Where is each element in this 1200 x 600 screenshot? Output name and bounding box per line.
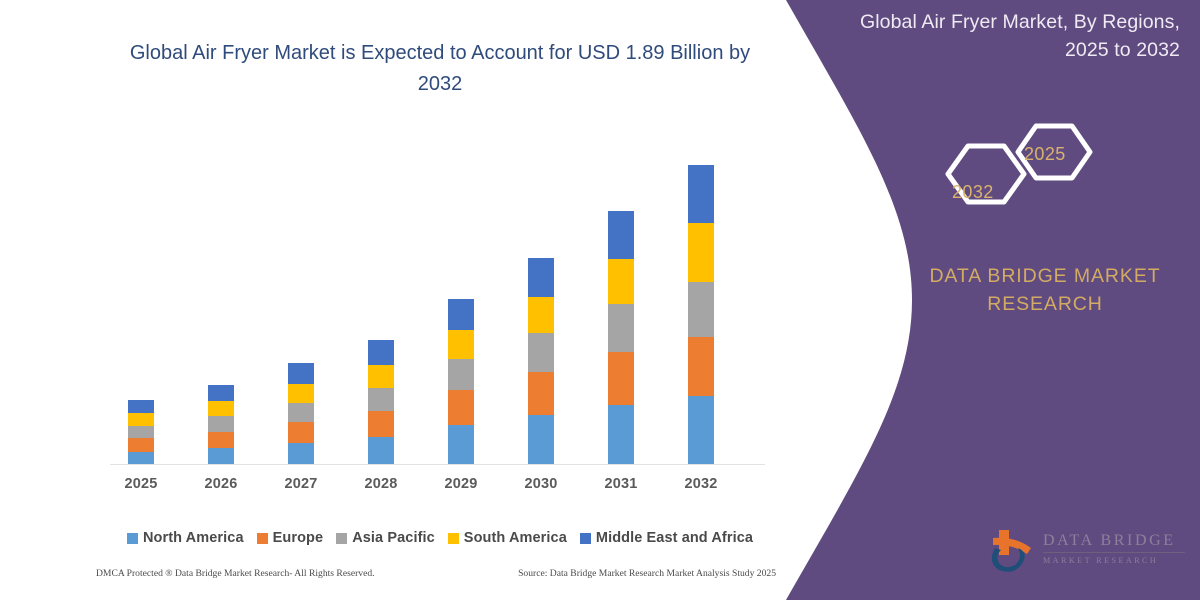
bar-segment-2031-south-america xyxy=(608,259,634,305)
data-bridge-logo: DATA BRIDGE MARKET RESEARCH xyxy=(985,528,1185,576)
legend-item-middle-east-and-africa[interactable]: Middle East and Africa xyxy=(580,530,753,546)
bar-segment-2027-asia-pacific xyxy=(288,403,314,422)
bar-2025[interactable] xyxy=(128,400,154,465)
footer: DMCA Protected ® Data Bridge Market Rese… xyxy=(96,568,776,586)
x-tick-label-2028: 2028 xyxy=(351,476,411,492)
bar-segment-2026-europe xyxy=(208,432,234,448)
bar-segment-2027-europe xyxy=(288,422,314,443)
hexagon-2032-label: 2032 xyxy=(952,182,994,203)
bar-segment-2032-south-america xyxy=(688,223,714,282)
bar-2026[interactable] xyxy=(208,385,234,465)
bar-segment-2030-europe xyxy=(528,372,554,415)
legend-label-europe: Europe xyxy=(273,530,324,546)
logo-line-1: DATA BRIDGE xyxy=(1043,532,1185,550)
bar-segment-2029-europe xyxy=(448,390,474,425)
bar-segment-2025-europe xyxy=(128,438,154,451)
bar-segment-2025-asia-pacific xyxy=(128,426,154,438)
bar-segment-2030-asia-pacific xyxy=(528,333,554,372)
bar-segment-2028-europe xyxy=(368,411,394,437)
hexagon-2025-label: 2025 xyxy=(1024,144,1066,165)
x-tick-label-2027: 2027 xyxy=(271,476,331,492)
stacked-bar-chart-plot xyxy=(110,140,770,465)
bar-segment-2026-middle-east-and-africa xyxy=(208,385,234,401)
legend-label-north-america: North America xyxy=(143,530,244,546)
hexagon-badges-svg xyxy=(930,108,1110,233)
legend-label-middle-east-and-africa: Middle East and Africa xyxy=(596,530,753,546)
bar-segment-2028-middle-east-and-africa xyxy=(368,340,394,365)
bar-segment-2028-south-america xyxy=(368,365,394,388)
bar-2032[interactable] xyxy=(688,165,714,465)
bar-segment-2029-middle-east-and-africa xyxy=(448,299,474,331)
bar-2029[interactable] xyxy=(448,299,474,465)
bar-segment-2031-europe xyxy=(608,352,634,405)
x-axis-tick-labels: 20252026202720282029203020312032 xyxy=(110,476,770,498)
x-tick-label-2026: 2026 xyxy=(191,476,251,492)
bar-segment-2032-europe xyxy=(688,337,714,396)
bar-segment-2030-north-america xyxy=(528,415,554,465)
legend-item-north-america[interactable]: North America xyxy=(127,530,244,546)
brand-name: DATA BRIDGE MARKET RESEARCH xyxy=(900,262,1190,319)
legend-swatch-south-america xyxy=(448,533,459,544)
bar-segment-2025-north-america xyxy=(128,452,154,465)
brand-panel-title: Global Air Fryer Market, By Regions, 202… xyxy=(830,8,1180,65)
bar-segment-2029-south-america xyxy=(448,330,474,359)
bar-2030[interactable] xyxy=(528,258,554,465)
logo-wordmark: DATA BRIDGE MARKET RESEARCH xyxy=(1043,532,1185,565)
chart-title: Global Air Fryer Market is Expected to A… xyxy=(110,38,770,100)
bar-segment-2026-asia-pacific xyxy=(208,416,234,431)
x-tick-label-2030: 2030 xyxy=(511,476,571,492)
bar-segment-2027-south-america xyxy=(288,384,314,403)
legend-label-asia-pacific: Asia Pacific xyxy=(352,530,435,546)
infographic-root: Global Air Fryer Market, By Regions, 202… xyxy=(0,0,1200,600)
legend-swatch-middle-east-and-africa xyxy=(580,533,591,544)
bar-segment-2030-middle-east-and-africa xyxy=(528,258,554,297)
bar-segment-2025-south-america xyxy=(128,413,154,425)
legend-item-europe[interactable]: Europe xyxy=(257,530,324,546)
hexagon-badge-group: 2025 2032 xyxy=(930,108,1110,233)
logo-line-2: MARKET RESEARCH xyxy=(1043,556,1185,565)
bar-segment-2030-south-america xyxy=(528,297,554,333)
bar-segment-2029-north-america xyxy=(448,425,474,465)
bar-segment-2032-middle-east-and-africa xyxy=(688,165,714,223)
legend-item-asia-pacific[interactable]: Asia Pacific xyxy=(336,530,435,546)
footer-source: Source: Data Bridge Market Research Mark… xyxy=(518,568,776,579)
bar-2027[interactable] xyxy=(288,363,314,465)
x-tick-label-2029: 2029 xyxy=(431,476,491,492)
bar-segment-2031-asia-pacific xyxy=(608,304,634,352)
footer-copyright: DMCA Protected ® Data Bridge Market Rese… xyxy=(96,568,375,579)
bar-segment-2029-asia-pacific xyxy=(448,359,474,390)
bar-segment-2026-south-america xyxy=(208,401,234,416)
legend-swatch-europe xyxy=(257,533,268,544)
bar-segment-2032-asia-pacific xyxy=(688,282,714,336)
logo-divider xyxy=(1043,552,1185,553)
x-tick-label-2032: 2032 xyxy=(671,476,731,492)
bar-segment-2028-asia-pacific xyxy=(368,388,394,412)
bar-2028[interactable] xyxy=(368,340,394,465)
x-axis-line xyxy=(110,464,765,465)
legend-swatch-asia-pacific xyxy=(336,533,347,544)
bar-segment-2026-north-america xyxy=(208,448,234,465)
bar-2031[interactable] xyxy=(608,211,634,465)
legend-label-south-america: South America xyxy=(464,530,567,546)
bar-segment-2025-middle-east-and-africa xyxy=(128,400,154,413)
bar-segment-2028-north-america xyxy=(368,437,394,465)
bar-segment-2031-north-america xyxy=(608,405,634,465)
legend-item-south-america[interactable]: South America xyxy=(448,530,567,546)
bar-segment-2032-north-america xyxy=(688,396,714,465)
bar-segment-2027-north-america xyxy=(288,443,314,465)
legend-swatch-north-america xyxy=(127,533,138,544)
x-tick-label-2031: 2031 xyxy=(591,476,651,492)
chart-legend: North AmericaEuropeAsia PacificSouth Ame… xyxy=(110,530,770,546)
bar-segment-2027-middle-east-and-africa xyxy=(288,363,314,384)
bar-segment-2031-middle-east-and-africa xyxy=(608,211,634,259)
data-bridge-logo-mark-icon xyxy=(985,528,1037,574)
x-tick-label-2025: 2025 xyxy=(111,476,171,492)
